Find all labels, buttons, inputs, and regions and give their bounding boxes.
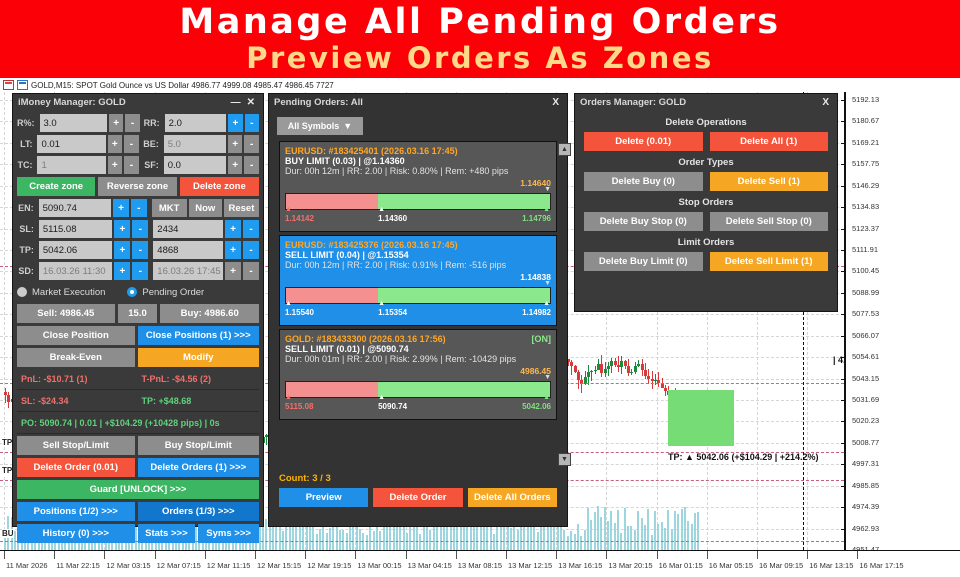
row-schedule: SD: 16.03.26 11:30 + - 16.03.26 17:45 + … xyxy=(17,262,259,280)
volume-bar xyxy=(580,536,582,550)
total-pnl-value: T-PnL: -$4.56 (2) xyxy=(138,370,259,387)
entry-price-mark: 5090.74 xyxy=(378,402,407,411)
close-icon[interactable]: X xyxy=(819,97,832,108)
tp-points-input[interactable]: 4868 xyxy=(153,241,223,259)
price-axis-tick xyxy=(841,443,846,444)
sl-points-plus-button[interactable]: + xyxy=(225,220,241,238)
price-axis-tick-label: 5134.83 xyxy=(852,202,879,211)
price-axis-tick xyxy=(841,507,846,508)
order-details-line: Dur: 00h 12m | RR: 2.00 | Risk: 0.91% | … xyxy=(285,260,551,270)
time-axis-tick-label: 16 Mar 01:15 xyxy=(659,561,703,570)
price-axis-tick xyxy=(841,379,846,380)
positions-orders-row: Positions (1/2) >>> Orders (1/3) >>> xyxy=(17,502,259,521)
time-axis-tick xyxy=(857,551,858,559)
price-axis-tick-label: 5077.53 xyxy=(852,309,879,318)
time-axis-tick xyxy=(506,551,507,559)
time-axis-tick xyxy=(657,551,658,559)
order-current-price: 4986.45 xyxy=(285,366,551,376)
price-axis-tick-label: 5020.23 xyxy=(852,416,879,425)
stats-button[interactable]: Stats >>> xyxy=(138,524,196,543)
indicator-icon xyxy=(17,80,28,90)
chevron-down-icon: ▼ xyxy=(343,121,352,131)
row-tp: TP: 5042.06 + - 4868 + - xyxy=(17,241,259,259)
risk-percent-plus-button[interactable]: + xyxy=(109,114,123,132)
volume-bar xyxy=(369,526,371,550)
tc-plus-button[interactable]: + xyxy=(108,156,123,174)
entry-price-mark: 1.14360 xyxy=(378,214,407,223)
chart-symbol-header: GOLD,M15: SPOT Gold Ounce vs US Dollar 4… xyxy=(0,78,960,92)
pending-order-stat: PO: 5090.74 | 0.01 | +$104.29 (+10428 pi… xyxy=(17,414,259,431)
buy-button[interactable]: Buy: 4986.60 xyxy=(160,304,259,323)
delete-sell-stop-0-button[interactable]: Delete Sell Stop (0) xyxy=(710,212,829,231)
orders-manager-button-row: Delete Buy Stop (0)Delete Sell Stop (0) xyxy=(575,212,837,231)
order-price-marks: ▲1.15540▲1.15354▲1.14982 xyxy=(285,304,551,320)
orders-manager-section-heading: Delete Operations xyxy=(575,111,837,132)
volume-bar xyxy=(265,519,267,550)
reverse-zone-button[interactable]: Reverse zone xyxy=(98,177,176,196)
volume-bar xyxy=(597,506,599,550)
order-id-line: EURUSD: #183425376 (2026.03.16 17:45) xyxy=(285,240,551,250)
risk-percent-input[interactable]: 3.0 xyxy=(40,114,107,132)
tc-minus-button[interactable]: - xyxy=(124,156,139,174)
entry-input[interactable]: 5090.74 xyxy=(39,199,112,217)
order-range-bar xyxy=(285,381,551,398)
tp-input[interactable]: 5042.06 xyxy=(39,241,113,259)
tp-marker-icon: ▲ xyxy=(543,207,550,212)
price-axis[interactable]: 5192.135180.675169.215157.755146.295134.… xyxy=(844,92,960,550)
risk-segment xyxy=(286,194,378,209)
be-label: BE: xyxy=(141,139,162,149)
spread-display: 15.0 xyxy=(118,304,158,323)
volume-bar xyxy=(661,522,663,550)
delete-buy-stop-0-button[interactable]: Delete Buy Stop (0) xyxy=(584,212,703,231)
order-type-line: SELL LIMIT (0.01) | @5090.74 xyxy=(285,344,551,354)
sl-price-mark: 5115.08 xyxy=(285,402,313,411)
current-price-marker-icon: ▼ xyxy=(285,188,551,192)
price-axis-tick-label: 5180.67 xyxy=(852,116,879,125)
entry-minus-button[interactable]: - xyxy=(131,199,147,217)
tp-zone-label: TP: ▲ 5042.06 (+$104.29 | +214.2%) xyxy=(668,452,819,462)
volume-bar xyxy=(624,508,626,550)
order-type-line: SELL LIMIT (0.04) | @1.15354 xyxy=(285,250,551,260)
sf-plus-button[interactable]: + xyxy=(228,156,243,174)
scroll-up-button[interactable]: ▲ xyxy=(558,143,571,156)
order-current-price: 1.14640 xyxy=(285,178,551,188)
time-axis-tick xyxy=(707,551,708,559)
lot-plus-button[interactable]: + xyxy=(108,135,123,153)
risk-percent-label: R%: xyxy=(17,118,38,128)
pending-order-card[interactable]: EURUSD: #183425401 (2026.03.16 17:45)BUY… xyxy=(279,141,557,232)
break-even-button[interactable]: Break-Even xyxy=(17,348,135,367)
volume-bar xyxy=(630,526,632,550)
risk-percent-minus-button[interactable]: - xyxy=(125,114,139,132)
sl-marker-icon: ▲ xyxy=(285,395,292,400)
volume-bar xyxy=(627,526,629,550)
lot-label: LT: xyxy=(17,139,35,149)
price-axis-tick-label: 5066.07 xyxy=(852,331,879,340)
pending-order-card[interactable]: GOLD: #183433300 (2026.03.16 17:56)[ON]S… xyxy=(279,329,557,420)
time-axis-tick-label: 12 Mar 15:15 xyxy=(257,561,301,570)
price-axis-tick-label: 5169.21 xyxy=(852,138,879,147)
order-id-line: EURUSD: #183425401 (2026.03.16 17:45) xyxy=(285,146,551,156)
edge-label-tp-1: TP xyxy=(2,438,12,447)
time-axis-tick-label: 12 Mar 07:15 xyxy=(157,561,201,570)
price-axis-tick xyxy=(841,100,846,101)
tp-stat-value: TP: +$48.68 xyxy=(138,392,259,409)
volume-bar xyxy=(359,529,361,550)
time-axis-tick xyxy=(757,551,758,559)
volume-bar xyxy=(641,518,643,550)
be-input[interactable]: 5.0 xyxy=(164,135,226,153)
volume-bar xyxy=(647,509,649,550)
time-axis-tick xyxy=(104,551,105,559)
time-axis-tick xyxy=(255,551,256,559)
preview-button[interactable]: Preview xyxy=(279,488,368,507)
banner-headline: Manage All Pending Orders xyxy=(0,2,960,42)
close-icon[interactable]: X xyxy=(549,97,562,108)
time-axis-tick-label: 16 Mar 05:15 xyxy=(709,561,753,570)
pending-order-radio[interactable] xyxy=(127,287,137,297)
order-range-bar xyxy=(285,193,551,210)
volume-bar xyxy=(610,511,612,550)
minimize-icon[interactable]: — xyxy=(228,97,244,108)
time-axis-tick-label: 13 Mar 08:15 xyxy=(458,561,502,570)
volume-bar xyxy=(644,525,646,550)
price-axis-tick xyxy=(841,529,846,530)
sl-points-input[interactable]: 2434 xyxy=(153,220,223,238)
sf-input[interactable]: 0.0 xyxy=(164,156,226,174)
pending-orders-list[interactable]: ▲ ▼ EURUSD: #183425401 (2026.03.16 17:45… xyxy=(279,141,557,468)
time-axis-tick xyxy=(155,551,156,559)
edge-label-tp-2: TP xyxy=(2,466,12,475)
price-axis-tick-label: 5146.29 xyxy=(852,181,879,190)
order-count-label: Count: 3 / 3 xyxy=(269,468,567,488)
time-axis-tick xyxy=(807,551,808,559)
delete-sell-1-button[interactable]: Delete Sell (1) xyxy=(710,172,829,191)
pnl-value: PnL: -$10.71 (1) xyxy=(17,370,135,387)
reward-segment xyxy=(378,382,550,397)
volume-bar xyxy=(664,528,666,550)
volume-bar xyxy=(674,511,676,550)
tp-zone-rectangle xyxy=(668,390,734,446)
time-axis-tick xyxy=(355,551,356,559)
market-execution-radio[interactable] xyxy=(17,287,27,297)
time-axis-tick xyxy=(4,551,5,559)
price-axis-tick xyxy=(841,293,846,294)
volume-bar xyxy=(456,525,458,550)
volume-bar xyxy=(637,511,639,550)
time-axis-tick-label: 13 Mar 16:15 xyxy=(558,561,602,570)
time-axis-tick-label: 16 Mar 13:15 xyxy=(809,561,853,570)
tp-label: TP: xyxy=(17,245,37,255)
guard-button[interactable]: Guard [UNLOCK] >>> xyxy=(17,480,259,499)
price-axis-tick xyxy=(841,164,846,165)
price-axis-tick xyxy=(841,336,846,337)
orders-manager-panel[interactable]: Orders Manager: GOLD X Delete Operations… xyxy=(574,93,838,312)
orders-manager-section-heading: Limit Orders xyxy=(575,231,837,252)
orders-manager-titlebar: Orders Manager: GOLD X xyxy=(575,94,837,111)
order-type-line: BUY LIMIT (0.03) | @1.14360 xyxy=(285,156,551,166)
close-position-button[interactable]: Close Position xyxy=(17,326,135,345)
sd-end-plus-button[interactable]: + xyxy=(225,262,241,280)
tp-minus-button[interactable]: - xyxy=(132,241,148,259)
volume-bar xyxy=(697,512,699,550)
time-axis-tick xyxy=(54,551,55,559)
price-axis-tick xyxy=(841,207,846,208)
sd-end-input[interactable]: 16.03.26 17:45 xyxy=(153,262,223,280)
price-axis-tick-label: 5008.77 xyxy=(852,438,879,447)
lot-minus-button[interactable]: - xyxy=(124,135,139,153)
lot-input[interactable]: 0.01 xyxy=(37,135,105,153)
sd-end-minus-button[interactable]: - xyxy=(243,262,259,280)
rr-minus-button[interactable]: - xyxy=(245,114,259,132)
tc-input[interactable]: 1 xyxy=(37,156,105,174)
orders-button[interactable]: Orders (1/3) >>> xyxy=(138,502,259,521)
sl-marker-icon: ▲ xyxy=(285,207,292,212)
tp-marker-icon: ▲ xyxy=(543,395,550,400)
entry-marker-icon: ▲ xyxy=(378,395,385,400)
orders-manager-section-heading: Stop Orders xyxy=(575,191,837,212)
time-axis-tick-label: 12 Mar 03:15 xyxy=(106,561,150,570)
orders-manager-button-row: Delete (0.01)Delete All (1) xyxy=(575,132,837,151)
volume-bar xyxy=(590,520,592,550)
time-axis-tick xyxy=(406,551,407,559)
sl-marker-icon: ▲ xyxy=(285,301,292,306)
volume-bar xyxy=(671,529,673,550)
pending-order-card[interactable]: EURUSD: #183425376 (2026.03.16 17:45)SEL… xyxy=(279,235,557,326)
price-axis-tick xyxy=(841,186,846,187)
positions-button[interactable]: Positions (1/2) >>> xyxy=(17,502,135,521)
execution-mode-row: Market Execution Pending Order xyxy=(17,283,259,301)
volume-bar xyxy=(366,535,368,550)
volume-bar xyxy=(510,528,512,550)
volume-bar xyxy=(329,528,331,550)
time-axis-tick-label: 13 Mar 00:15 xyxy=(357,561,401,570)
modify-button[interactable]: Modify xyxy=(138,348,259,367)
volume-bar xyxy=(275,526,277,550)
row-lot-be: LT: 0.01 + - BE: 5.0 + - xyxy=(17,135,259,153)
volume-bar xyxy=(409,525,411,550)
delete-all-1-button[interactable]: Delete All (1) xyxy=(710,132,829,151)
close-row: Close Position Close Positions (1) >>> xyxy=(17,326,259,345)
entry-marker-icon: ▲ xyxy=(378,301,385,306)
sell-stop-limit-button[interactable]: Sell Stop/Limit xyxy=(17,436,135,455)
entry-plus-button[interactable]: + xyxy=(113,199,129,217)
price-axis-tick-label: 5088.99 xyxy=(852,288,879,297)
current-price-marker-icon: ▼ xyxy=(285,282,551,286)
price-axis-tick-label: 5192.13 xyxy=(852,95,879,104)
history-button[interactable]: History (0) >>> xyxy=(17,524,135,543)
be-plus-button[interactable]: + xyxy=(228,135,243,153)
volume-bar xyxy=(319,529,321,550)
money-manager-panel[interactable]: iMoney Manager: GOLD — ✕ R%: 3.0 + - RR:… xyxy=(12,93,264,527)
reward-segment xyxy=(378,288,550,303)
banner-subheadline: Preview Orders As Zones xyxy=(0,41,960,75)
volume-bar xyxy=(677,514,679,550)
close-positions-button[interactable]: Close Positions (1) >>> xyxy=(138,326,259,345)
price-axis-tick xyxy=(841,314,846,315)
sl-tp-stat-row: SL: -$24.34 TP: +$48.68 xyxy=(17,392,259,409)
time-axis-tick xyxy=(205,551,206,559)
sd-start-plus-button[interactable]: + xyxy=(114,262,130,280)
time-axis-tick-label: 12 Mar 11:15 xyxy=(207,561,251,570)
money-manager-title: iMoney Manager: GOLD xyxy=(18,97,126,108)
orders-manager-section-heading: Order Types xyxy=(575,151,837,172)
chart-symbol-text: GOLD,M15: SPOT Gold Ounce vs US Dollar 4… xyxy=(31,81,334,90)
price-axis-tick-label: 4962.93 xyxy=(852,524,879,533)
delete-buy-limit-0-button[interactable]: Delete Buy Limit (0) xyxy=(584,252,703,271)
order-current-price: 1.14838 xyxy=(285,272,551,282)
tp-price-mark: 1.14982 xyxy=(522,308,551,317)
zone-buttons-row: Create zone Reverse zone Delete zone xyxy=(17,177,259,196)
delete-order-button[interactable]: Delete Order (0.01) xyxy=(17,458,135,477)
volume-bar xyxy=(684,507,686,550)
sd-start-minus-button[interactable]: - xyxy=(132,262,148,280)
price-axis-tick-label: 5111.91 xyxy=(852,245,878,254)
price-axis-tick-label: 5054.61 xyxy=(852,352,879,361)
modify-row: Break-Even Modify xyxy=(17,348,259,367)
volume-bar xyxy=(594,512,596,550)
tc-label: TC: xyxy=(17,160,35,170)
price-axis-tick xyxy=(841,357,846,358)
now-button[interactable]: Now xyxy=(189,199,222,217)
volume-bar xyxy=(587,508,589,550)
volume-bar xyxy=(563,530,565,550)
price-axis-tick xyxy=(841,121,846,122)
order-details-line: Dur: 00h 01m | RR: 2.00 | Risk: 2.99% | … xyxy=(285,354,551,364)
volume-bar xyxy=(567,536,569,550)
guard-row: Guard [UNLOCK] >>> xyxy=(17,480,259,499)
market-execution-label: Market Execution xyxy=(32,287,105,298)
time-axis-tick-label: 11 Mar 2026 xyxy=(6,561,48,570)
volume-bar xyxy=(667,510,669,550)
delete-zone-button[interactable]: Delete zone xyxy=(180,177,259,196)
tp-points-plus-button[interactable]: + xyxy=(225,241,241,259)
volume-bar xyxy=(316,534,318,550)
symbol-filter-dropdown[interactable]: All Symbols ▼ xyxy=(277,117,363,135)
sd-start-input[interactable]: 16.03.26 11:30 xyxy=(39,262,113,280)
pending-orders-panel[interactable]: Pending Orders: All X All Symbols ▼ ▲ ▼ … xyxy=(268,93,568,527)
delete-order-button[interactable]: Delete Order xyxy=(373,488,462,507)
volume-bar xyxy=(604,507,606,550)
time-axis-tick-label: 12 Mar 19:15 xyxy=(307,561,351,570)
be-minus-button[interactable]: - xyxy=(244,135,259,153)
time-axis[interactable]: 11 Mar 202611 Mar 22:1512 Mar 03:1512 Ma… xyxy=(0,550,960,577)
volume-bar xyxy=(429,530,431,550)
mkt-button[interactable]: MKT xyxy=(152,199,187,217)
sl-minus-button[interactable]: - xyxy=(132,220,148,238)
price-axis-tick xyxy=(841,464,846,465)
volume-bar xyxy=(483,526,485,550)
chart-icon xyxy=(3,80,14,90)
sl-input[interactable]: 5115.08 xyxy=(39,220,113,238)
volume-bar xyxy=(607,521,609,550)
entry-label: EN: xyxy=(17,203,37,213)
pnl-row: PnL: -$10.71 (1) T-PnL: -$4.56 (2) xyxy=(17,370,259,387)
volume-bar xyxy=(466,523,468,550)
pending-orders-titlebar: Pending Orders: All X xyxy=(269,94,567,111)
time-axis-tick-label: 16 Mar 09:15 xyxy=(759,561,803,570)
price-axis-tick-label: 5043.15 xyxy=(852,374,879,383)
time-axis-tick-label: 13 Mar 20:15 xyxy=(608,561,652,570)
money-manager-titlebar: iMoney Manager: GOLD — ✕ xyxy=(13,94,263,111)
time-axis-tick-label: 11 Mar 22:15 xyxy=(56,561,100,570)
delete-0-01-button[interactable]: Delete (0.01) xyxy=(584,132,703,151)
price-axis-tick xyxy=(841,229,846,230)
rr-label: RR: xyxy=(142,118,163,128)
volume-bar xyxy=(600,517,602,550)
buy-stop-limit-button[interactable]: Buy Stop/Limit xyxy=(138,436,259,455)
volume-bar xyxy=(614,523,616,550)
delete-buy-0-button[interactable]: Delete Buy (0) xyxy=(584,172,703,191)
price-axis-tick xyxy=(841,486,846,487)
time-axis-tick xyxy=(305,551,306,559)
pending-orders-actions: Preview Delete Order Delete All Orders xyxy=(269,488,567,507)
order-range-bar xyxy=(285,287,551,304)
time-axis-tick-label: 16 Mar 17:15 xyxy=(859,561,903,570)
orders-manager-title: Orders Manager: GOLD xyxy=(580,97,686,108)
reset-button[interactable]: Reset xyxy=(224,199,259,217)
create-zone-button[interactable]: Create zone xyxy=(17,177,95,196)
sl-plus-button[interactable]: + xyxy=(114,220,130,238)
volume-bar xyxy=(681,509,683,550)
volume-bar xyxy=(651,535,653,550)
volume-bar xyxy=(577,524,579,550)
row-risk-rr: R%: 3.0 + - RR: 2.0 + - xyxy=(17,114,259,132)
tp-plus-button[interactable]: + xyxy=(114,241,130,259)
sl-price-mark: 1.15540 xyxy=(285,308,314,317)
sf-minus-button[interactable]: - xyxy=(244,156,259,174)
tp-marker-icon: ▲ xyxy=(543,301,550,306)
volume-bar xyxy=(460,524,462,550)
time-axis-tick xyxy=(556,551,557,559)
close-icon[interactable]: ✕ xyxy=(244,97,258,108)
current-price-marker-icon: ▼ xyxy=(285,376,551,380)
symbol-filter-label: All Symbols xyxy=(288,121,340,131)
syms-button[interactable]: Syms >>> xyxy=(198,524,259,543)
time-axis-tick-label: 13 Mar 12:15 xyxy=(508,561,552,570)
row-sl: SL: 5115.08 + - 2434 + - xyxy=(17,220,259,238)
rr-input[interactable]: 2.0 xyxy=(165,114,227,132)
order-details-line: Dur: 00h 12m | RR: 2.00 | Risk: 0.80% | … xyxy=(285,166,551,176)
sell-button[interactable]: Sell: 4986.45 xyxy=(17,304,115,323)
sl-label: SL: xyxy=(17,224,37,234)
price-axis-tick-label: 4985.85 xyxy=(852,481,879,490)
tp-points-minus-button[interactable]: - xyxy=(243,241,259,259)
orders-manager-button-row: Delete Buy Limit (0)Delete Sell Limit (1… xyxy=(575,252,837,271)
delete-sell-limit-1-button[interactable]: Delete Sell Limit (1) xyxy=(710,252,829,271)
volume-bar xyxy=(694,513,696,550)
scroll-down-button[interactable]: ▼ xyxy=(558,453,571,466)
volume-bar xyxy=(654,511,656,550)
price-axis-tick-label: 4974.39 xyxy=(852,502,879,511)
orders-manager-body: Delete OperationsDelete (0.01)Delete All… xyxy=(575,111,837,271)
sl-points-minus-button[interactable]: - xyxy=(243,220,259,238)
delete-all-orders-button[interactable]: Delete All Orders xyxy=(468,488,557,507)
price-axis-tick xyxy=(841,143,846,144)
price-axis-tick-label: 5031.69 xyxy=(852,395,879,404)
delete-orders-button[interactable]: Delete Orders (1) >>> xyxy=(138,458,259,477)
pending-orders-title: Pending Orders: All xyxy=(274,97,363,108)
volume-bar xyxy=(691,524,693,550)
tp-price-mark: 5042.06 xyxy=(522,402,551,411)
sl-price-mark: 1.14142 xyxy=(285,214,314,223)
rr-plus-button[interactable]: + xyxy=(228,114,242,132)
volume-bar xyxy=(289,524,291,550)
risk-segment xyxy=(286,288,378,303)
order-price-marks: ▲5115.08▲5090.74▲5042.06 xyxy=(285,398,551,414)
reward-segment xyxy=(378,194,550,209)
